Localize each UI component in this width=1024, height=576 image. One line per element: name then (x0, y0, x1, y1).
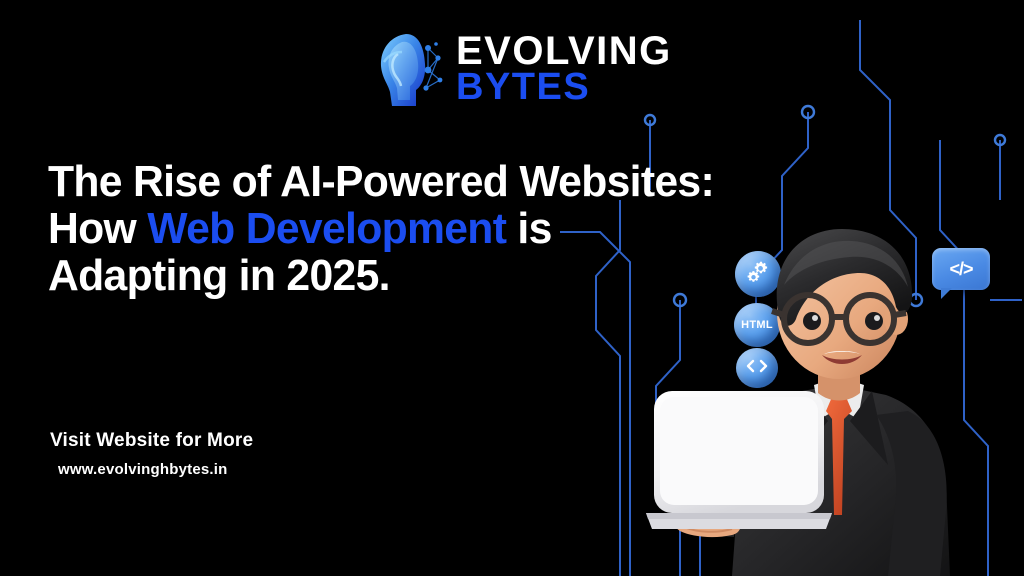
cta-block: Visit Website for More www.evolvinghbyte… (50, 430, 253, 478)
poster-canvas: EVOLVING BYTES The Rise of AI-Powered We… (0, 0, 1024, 576)
headline-line-2-pre: How (48, 204, 147, 253)
cta-title: Visit Website for More (50, 430, 253, 452)
headline-block: The Rise of AI-Powered Websites: How Web… (48, 158, 708, 299)
code-bubble-icon: </> (949, 259, 972, 280)
headline-line-2-post: is (506, 204, 551, 253)
headline-line-1: The Rise of AI-Powered Websites: (48, 158, 688, 205)
logo-text-primary: EVOLVING (456, 33, 672, 70)
headline-line-2: How Web Development is (48, 205, 688, 252)
headline-highlight: Web Development (147, 204, 506, 253)
headline-line-3: Adapting in 2025. (48, 252, 688, 299)
brand-logo[interactable]: EVOLVING BYTES (376, 26, 676, 112)
ai-head-profile-icon (376, 28, 446, 110)
cta-url[interactable]: www.evolvinghbytes.in (58, 461, 253, 478)
logo-text-secondary: BYTES (456, 70, 672, 105)
